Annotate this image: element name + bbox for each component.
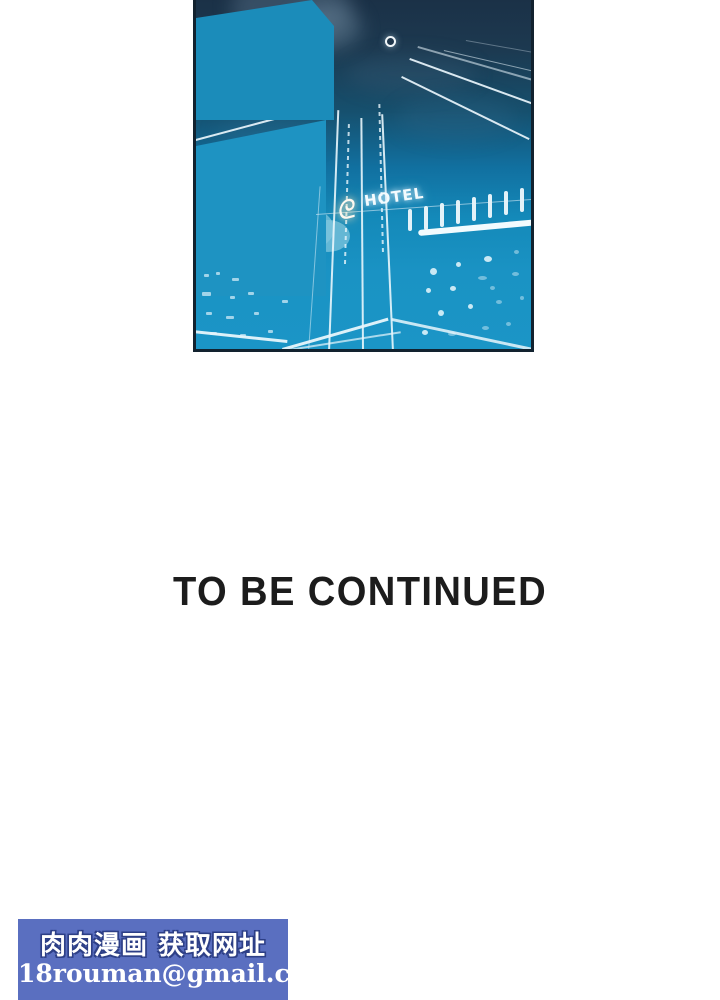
window-light [216,272,220,275]
window-light-dot [438,310,444,316]
window-light [254,312,259,315]
window-light-dot [490,286,495,290]
window-slit [488,194,492,218]
panel-artwork: ᘓ HOTEL [196,0,531,349]
left-building [196,0,334,120]
window-light-dot [450,286,456,291]
window-light [206,312,212,315]
watermark-email: 18rouman@gmail.com [18,959,288,988]
window-light-dot [496,300,502,304]
window-light [268,330,273,333]
window-light [226,316,234,319]
window-light-dot [484,256,492,262]
window-light-dot [482,326,489,330]
window-light [202,292,211,296]
window-light [204,274,209,277]
window-light-dot [514,250,519,254]
comic-panel: ᘓ HOTEL [193,0,534,352]
window-light-dot [506,322,511,326]
window-light-dot [520,296,524,300]
window-light [248,292,254,295]
window-slit [424,206,428,230]
watermark-title: 肉肉漫画 获取网址 [18,925,288,962]
window-light [230,296,235,299]
window-slit [408,209,412,231]
window-slit [472,197,476,221]
window-light [282,300,288,303]
window-light-dot [426,288,431,293]
window-light-dot [468,304,473,309]
window-light-dot [478,276,487,280]
window-light-dot [456,262,461,267]
right-building [196,120,326,296]
window-slit [504,191,508,215]
window-light-dot [512,272,519,276]
window-light [232,278,239,281]
moon-icon [385,36,396,47]
watermark-banner: 肉肉漫画 获取网址 18rouman@gmail.com [18,919,288,1000]
to-be-continued-caption: TO BE CONTINUED [25,568,695,615]
window-light-dot [422,330,428,335]
window-light-dot [430,268,437,275]
